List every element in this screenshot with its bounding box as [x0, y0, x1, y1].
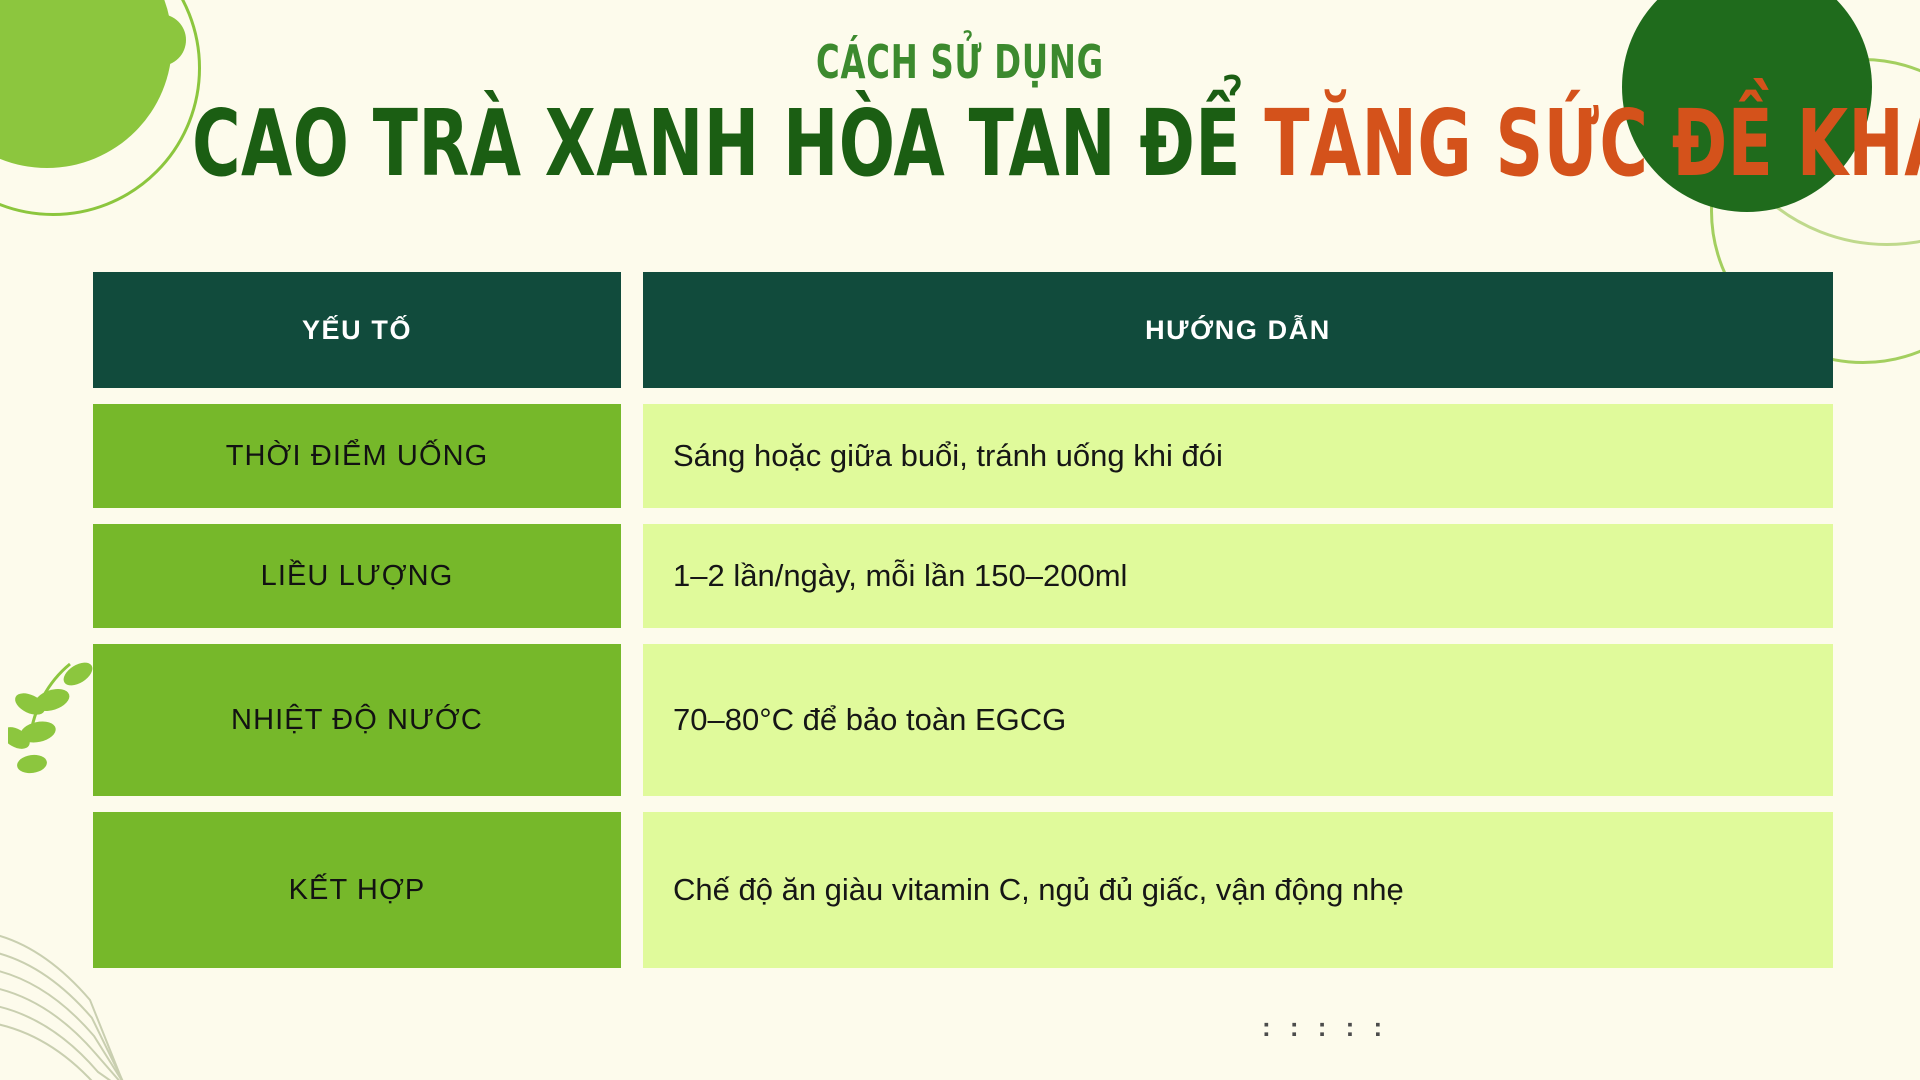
row-label-cell: NHIỆT ĐỘ NƯỚC — [93, 644, 621, 796]
row-label-cell: KẾT HỢP — [93, 812, 621, 968]
table-header-huong-dan: HƯỚNG DẪN — [643, 272, 1833, 388]
dots-decoration: : : : : : — [1262, 1012, 1388, 1043]
main-title-green-part: CAO TRÀ XANH HÒA TAN ĐỂ — [192, 90, 1241, 197]
usage-table: YẾU TỐ HƯỚNG DẪN THỜI ĐIỂM UỐNG Sáng hoặ… — [93, 272, 1833, 984]
column-header-label: HƯỚNG DẪN — [1145, 315, 1331, 346]
column-header-label: YẾU TỐ — [302, 315, 412, 346]
table-row: NHIỆT ĐỘ NƯỚC 70–80°C để bảo toàn EGCG — [93, 644, 1833, 796]
table-row: LIỀU LƯỢNG 1–2 lần/ngày, mỗi lần 150–200… — [93, 524, 1833, 628]
row-value-cell: Sáng hoặc giữa buổi, tránh uống khi đói — [643, 404, 1833, 508]
table-row: THỜI ĐIỂM UỐNG Sáng hoặc giữa buổi, trán… — [93, 404, 1833, 508]
page-title: CÁCH SỬ DỤNG CAO TRÀ XANH HÒA TAN ĐỂ TĂN… — [0, 38, 1920, 190]
main-title: CAO TRÀ XANH HÒA TAN ĐỂ TĂNG SỨC ĐỀ KHÁN… — [192, 98, 1728, 190]
table-header-row: YẾU TỐ HƯỚNG DẪN — [93, 272, 1833, 388]
main-title-orange-part: TĂNG SỨC ĐỀ KHÁNG — [1264, 90, 1920, 197]
row-value-cell: 70–80°C để bảo toàn EGCG — [643, 644, 1833, 796]
row-value-cell: 1–2 lần/ngày, mỗi lần 150–200ml — [643, 524, 1833, 628]
row-label-cell: THỜI ĐIỂM UỐNG — [93, 404, 621, 508]
eyebrow-title: CÁCH SỬ DỤNG — [211, 38, 1709, 86]
table-header-yeu-to: YẾU TỐ — [93, 272, 621, 388]
row-label-cell: LIỀU LƯỢNG — [93, 524, 621, 628]
row-value-cell: Chế độ ăn giàu vitamin C, ngủ đủ giấc, v… — [643, 812, 1833, 968]
table-row: KẾT HỢP Chế độ ăn giàu vitamin C, ngủ đủ… — [93, 812, 1833, 968]
